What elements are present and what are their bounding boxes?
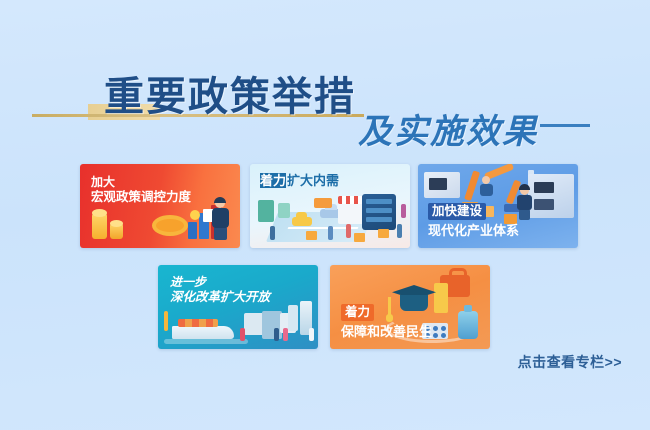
gold-column-icon [434, 283, 448, 313]
delivery-truck-icon [314, 198, 332, 208]
coin-icon [190, 210, 200, 220]
business-person-icon [212, 198, 230, 240]
building-icon [258, 200, 274, 222]
card-domestic-demand[interactable]: 着力扩大内需 [250, 164, 410, 248]
robot-arm-icon [464, 170, 480, 201]
card-reform-opening[interactable]: 进一步 深化改革扩大开放 [158, 265, 318, 349]
worker-icon [517, 186, 532, 220]
car-icon [292, 217, 312, 226]
banner-root: 重要政策举措 及实施效果 加大 宏观政策调控力度 [0, 0, 650, 430]
coin-ring-icon [152, 215, 188, 236]
card-label-line-2: 现代化产业体系 [428, 223, 519, 239]
warehouse-icon [362, 194, 396, 230]
cargo-ship-icon [172, 326, 234, 339]
control-panel-icon [528, 174, 574, 218]
pedestrian-icon [328, 226, 333, 240]
card-reform-opening-label: 进一步 深化改革扩大开放 [170, 275, 270, 305]
pedestrian-icon [346, 224, 351, 238]
pedestrian-icon [274, 328, 279, 341]
card-label-line-2: 保障和改善民生 [341, 324, 432, 340]
pedestrian-icon [270, 226, 275, 240]
coin-stack-small-icon [110, 223, 123, 239]
container-icon [262, 311, 282, 339]
card-macro-policy[interactable]: 加大 宏观政策调控力度 [80, 164, 240, 248]
card-label-line-2: 宏观政策调控力度 [91, 190, 191, 205]
card-label-line-1: 着力 [341, 304, 374, 321]
card-label-line-1: 加大 [91, 175, 191, 190]
card-modern-industry-label: 加快建设 现代化产业体系 [428, 202, 519, 239]
pedestrian-icon [283, 328, 288, 341]
water-wave-icon [164, 339, 248, 344]
pedestrian-icon [240, 328, 245, 341]
card-label-line-1: 进一步 [170, 275, 270, 290]
worker-icon [480, 176, 493, 202]
parcel-icon [354, 233, 365, 242]
water-bottle-icon [458, 311, 478, 339]
bar-chart-icon [188, 222, 197, 239]
title-blue-rule-decoration [540, 124, 590, 127]
card-label-part-1: 着力 [260, 173, 286, 188]
card-macro-policy-label: 加大 宏观政策调控力度 [91, 175, 191, 205]
card-domestic-demand-label: 着力扩大内需 [260, 173, 339, 189]
card-label-line-1: 着力扩大内需 [260, 173, 339, 189]
coin-stack-icon [92, 213, 107, 239]
view-column-link[interactable]: 点击查看专栏>> [518, 352, 622, 372]
page-title-line-1: 重要政策举措 [104, 64, 356, 122]
factory-machine-icon [424, 172, 460, 198]
pedestrian-icon [397, 224, 402, 238]
parcel-icon [306, 231, 317, 240]
card-peoples-livelihood[interactable]: 着力 保障和改善民生 [330, 265, 490, 349]
pedestrian-icon [309, 328, 314, 341]
card-label-line-2: 深化改革扩大开放 [170, 290, 270, 305]
card-label-part-2: 扩大内需 [287, 173, 339, 188]
page-title-line-2: 及实施效果 [358, 104, 538, 153]
card-label-line-1: 加快建设 [428, 203, 486, 220]
card-modern-industry[interactable]: 加快建设 现代化产业体系 [418, 164, 578, 248]
parcel-icon [378, 229, 389, 238]
pedestrian-icon [401, 204, 406, 218]
building-icon [278, 203, 290, 218]
banner-title-block: 重要政策举措 及实施效果 [0, 58, 650, 148]
dock-post-icon [164, 311, 168, 331]
port-tower-icon [288, 305, 298, 331]
card-peoples-livelihood-label: 着力 保障和改善民生 [341, 303, 432, 340]
